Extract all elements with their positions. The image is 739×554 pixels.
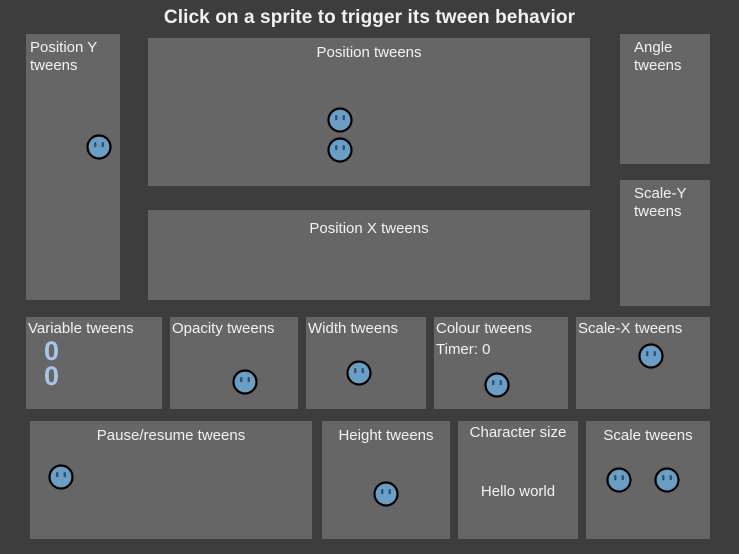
sprite-opacity-tweens-0[interactable] bbox=[232, 369, 258, 395]
panel-scale-y-tweens: Scale-Y tweens bbox=[620, 180, 710, 306]
panel-label-width-tweens: Width tweens bbox=[308, 320, 398, 338]
panel-colour-tweens: Colour tweensTimer: 0 bbox=[434, 317, 568, 409]
sprite-position-tweens-0[interactable] bbox=[327, 107, 353, 133]
panel-opacity-tweens: Opacity tweens bbox=[170, 317, 298, 409]
panel-label-position-x-tweens: Position X tweens bbox=[148, 220, 590, 238]
panel-label-angle-tweens: Angle tweens bbox=[634, 39, 682, 75]
panel-label-position-y-tweens: Position Y tweens bbox=[30, 39, 97, 75]
panel-variable-tweens: Variable tweens00 bbox=[26, 317, 162, 409]
sprite-pause-resume-tweens-0[interactable] bbox=[48, 464, 74, 490]
variable-value-1: 0 bbox=[44, 364, 59, 389]
panel-scale-tweens: Scale tweens bbox=[586, 421, 710, 539]
panel-scale-x-tweens: Scale-X tweens bbox=[576, 317, 710, 409]
tween-demo-stage: Click on a sprite to trigger its tween b… bbox=[0, 0, 739, 554]
sprite-position-y-tweens-0[interactable] bbox=[86, 134, 112, 160]
panel-label-opacity-tweens: Opacity tweens bbox=[172, 320, 275, 338]
panel-position-x-tweens: Position X tweensTimer: 0 bbox=[148, 210, 590, 300]
sprite-colour-tweens-0[interactable] bbox=[484, 372, 510, 398]
panel-height-tweens: Height tweens bbox=[322, 421, 450, 539]
sprite-position-tweens-1[interactable] bbox=[327, 137, 353, 163]
panel-position-y-tweens: Position Y tweens bbox=[26, 34, 120, 300]
panel-label-scale-x-tweens: Scale-X tweens bbox=[578, 320, 682, 338]
panel-label-height-tweens: Height tweens bbox=[322, 427, 450, 445]
sprite-scale-x-tweens-0[interactable] bbox=[638, 343, 664, 369]
timer-readout-colour-tweens: Timer: 0 bbox=[436, 341, 490, 359]
panel-label-position-tweens: Position tweens bbox=[148, 44, 590, 62]
panel-angle-tweens: Angle tweens bbox=[620, 34, 710, 164]
panel-label-character-size: Character size bbox=[458, 424, 578, 442]
panel-position-tweens: Position tweens bbox=[148, 38, 590, 186]
sprite-height-tweens-0[interactable] bbox=[373, 481, 399, 507]
sprite-width-tweens-0[interactable] bbox=[346, 360, 372, 386]
panel-label-colour-tweens: Colour tweens bbox=[436, 320, 532, 338]
panel-label-scale-y-tweens: Scale-Y tweens bbox=[634, 185, 687, 221]
panel-label-pause-resume-tweens: Pause/resume tweens bbox=[30, 427, 312, 445]
character-size-text: Hello world bbox=[458, 483, 578, 500]
panel-label-scale-tweens: Scale tweens bbox=[586, 427, 710, 445]
panel-pause-resume-tweens: Pause/resume tweens bbox=[30, 421, 312, 539]
page-title: Click on a sprite to trigger its tween b… bbox=[0, 7, 739, 29]
sprite-scale-tweens-1[interactable] bbox=[654, 467, 680, 493]
sprite-scale-tweens-0[interactable] bbox=[606, 467, 632, 493]
panel-width-tweens: Width tweens bbox=[306, 317, 426, 409]
panel-character-size: Character sizeHello world bbox=[458, 421, 578, 539]
